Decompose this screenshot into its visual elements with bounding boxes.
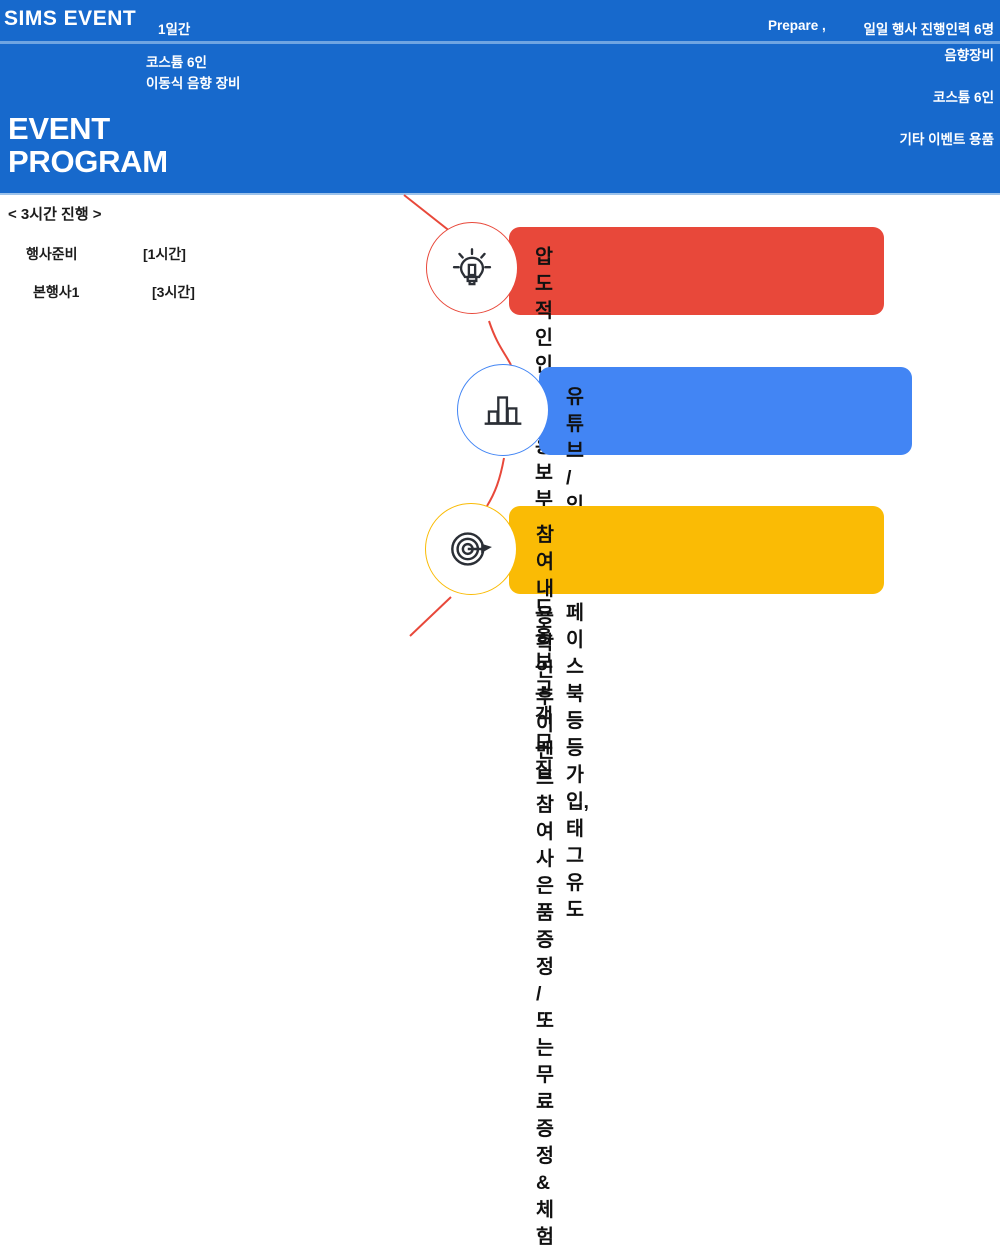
connector-segment-2-3 bbox=[487, 458, 504, 506]
lightbulb-icon bbox=[447, 243, 497, 293]
page-title: EVENT PROGRAM bbox=[8, 112, 168, 178]
connector-segment-bottom bbox=[410, 597, 451, 636]
header-equipment-item: 이동식 음향 장비 bbox=[146, 73, 240, 94]
header-divider bbox=[0, 41, 1000, 44]
bar-chart-icon bbox=[478, 385, 528, 435]
step-2-banner bbox=[539, 367, 912, 455]
step-3-icon-circle bbox=[425, 503, 517, 595]
step-3-banner bbox=[509, 506, 884, 594]
header-staff-label: 일일 행사 진행인력 6명 bbox=[863, 18, 994, 38]
page-title-line1: EVENT bbox=[8, 112, 168, 145]
step-2-icon-circle bbox=[457, 364, 549, 456]
header-duration-label: 1일간 bbox=[158, 18, 190, 38]
step-1-banner bbox=[509, 227, 884, 315]
header-equipment-list: 코스튬 6인 이동식 음향 장비 bbox=[146, 52, 240, 94]
page-title-line2: PROGRAM bbox=[8, 145, 168, 178]
header-equipment-item: 코스튬 6인 bbox=[146, 52, 240, 73]
header-prepare-list: 음향장비 코스튬 6인 기타 이벤트 용품 bbox=[900, 44, 994, 170]
step-2-text: 유튜브 / 인스타 / 페이스북 등등 가입, 태그 유도 bbox=[566, 384, 589, 924]
header-prepare-item: 코스튬 6인 bbox=[900, 86, 994, 106]
step-1-icon-circle bbox=[426, 222, 518, 314]
page-header: SIMS EVENT 1일간 Prepare , 일일 행사 진행인력 6명 코… bbox=[0, 0, 1000, 193]
connector-segment-1-2 bbox=[489, 321, 511, 365]
brand-logo: SIMS EVENT bbox=[4, 7, 136, 31]
target-icon bbox=[445, 523, 497, 575]
step-3-text: 참여 내용 확인 후 이벤트 참여 사은품 증정 / 또는 무료 증정&체험 bbox=[536, 522, 554, 1251]
header-prepare-item: 기타 이벤트 용품 bbox=[900, 128, 994, 148]
header-prepare-label: Prepare , bbox=[768, 18, 826, 33]
header-prepare-item: 음향장비 bbox=[900, 44, 994, 64]
